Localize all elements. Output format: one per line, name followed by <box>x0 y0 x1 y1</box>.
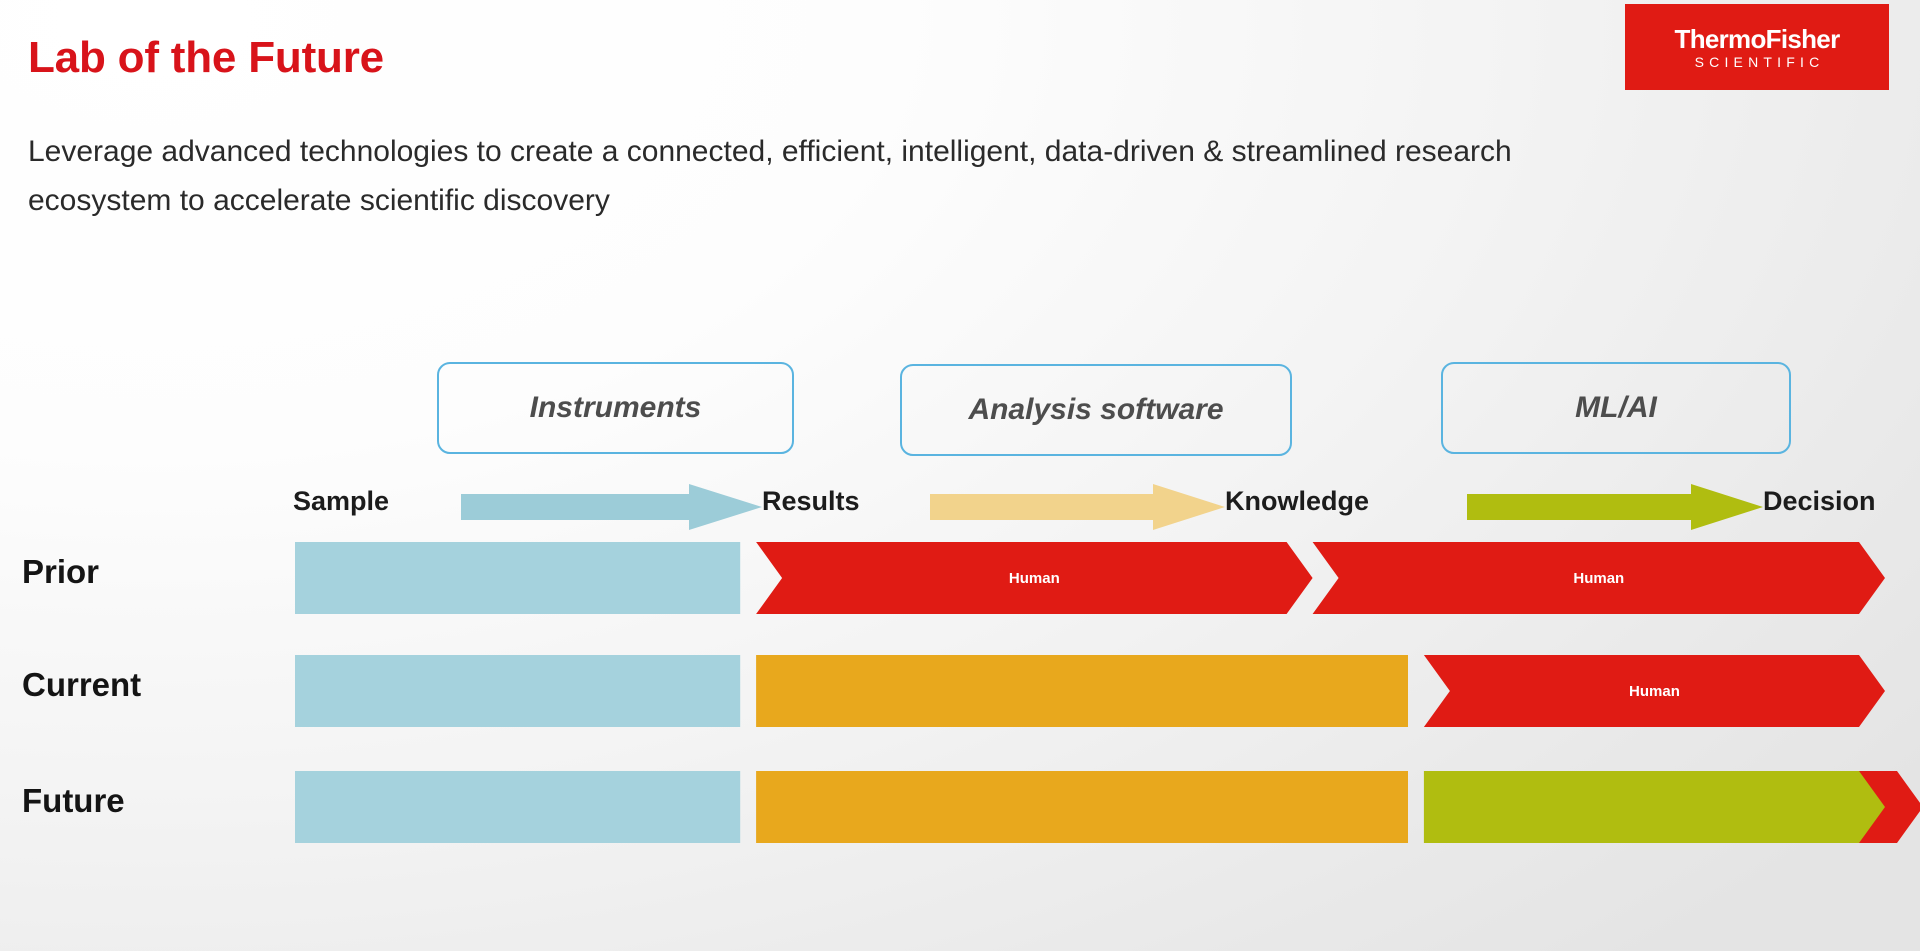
bar-segment-label: Human <box>1573 570 1624 587</box>
tech-box-label: ML/AI <box>1575 391 1657 425</box>
flow-arrow-sample-to-results <box>461 484 762 530</box>
row-label-prior: Prior <box>22 553 99 591</box>
flow-label-decision: Decision <box>1763 486 1876 517</box>
flow-label-sample: Sample <box>293 486 389 517</box>
bar-segment <box>295 655 740 727</box>
flow-label-knowledge: Knowledge <box>1225 486 1369 517</box>
maturity-row-prior: HumanHuman <box>295 542 1885 614</box>
bar-segment-label: Human <box>1629 683 1680 700</box>
bar-segment <box>295 771 740 843</box>
flow-arrow-results-to-knowledge <box>930 484 1225 530</box>
bar-segment-label: Human <box>1009 570 1060 587</box>
flow-label-results: Results <box>762 486 860 517</box>
tech-box-label: Instruments <box>530 391 702 425</box>
tech-box-instruments[interactable]: Instruments <box>437 362 794 454</box>
page-subtitle: Leverage advanced technologies to create… <box>28 128 1588 225</box>
thermo-fisher-logo: ThermoFisher SCIENTIFIC <box>1625 4 1889 90</box>
logo-tagline: SCIENTIFIC <box>1690 55 1825 69</box>
slide-canvas: Lab of the Future Leverage advanced tech… <box>0 0 1920 951</box>
maturity-row-future <box>295 771 1885 843</box>
logo-wordmark: ThermoFisher <box>1675 26 1840 52</box>
bar-segment <box>756 655 1408 727</box>
bar-segment <box>756 771 1408 843</box>
bar-segment <box>1424 771 1885 843</box>
tech-box-analysis-software[interactable]: Analysis software <box>900 364 1292 456</box>
bar-segment <box>295 542 740 614</box>
row-label-current: Current <box>22 666 141 704</box>
maturity-row-current: Human <box>295 655 1885 727</box>
flow-arrow-knowledge-to-decision <box>1467 484 1763 530</box>
row-label-future: Future <box>22 782 125 820</box>
tech-box-ml-ai[interactable]: ML/AI <box>1441 362 1791 454</box>
tech-box-label: Analysis software <box>968 393 1223 427</box>
page-title: Lab of the Future <box>28 33 384 83</box>
